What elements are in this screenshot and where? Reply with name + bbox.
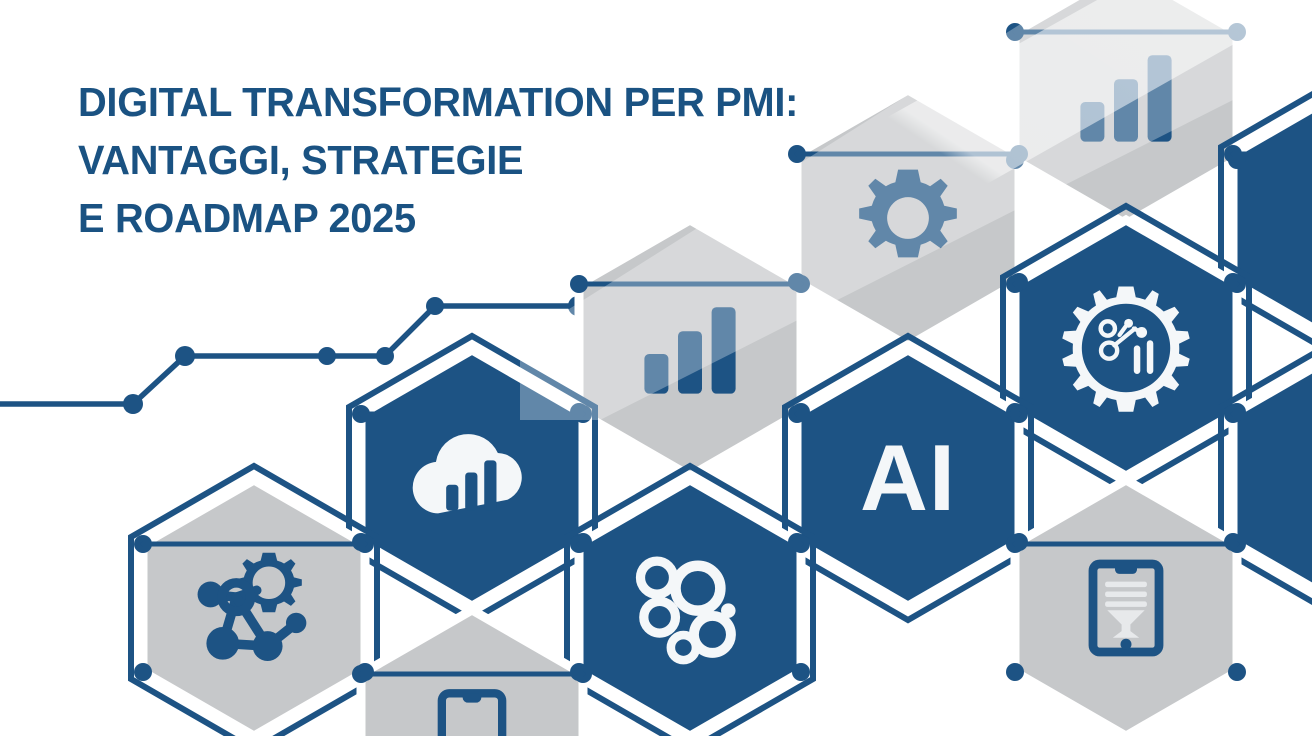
hexagon-grid	[0, 0, 1312, 736]
hex-bubbles	[567, 466, 813, 736]
hero-banner: AI DIGITAL TRANSFORMATION PER PMI: VANTA…	[0, 0, 1312, 736]
hex-ai	[785, 336, 1031, 620]
hex-mobile-doc	[1015, 480, 1237, 736]
hex-network-gear	[131, 466, 377, 736]
hex-gear-network-right	[1003, 206, 1249, 490]
